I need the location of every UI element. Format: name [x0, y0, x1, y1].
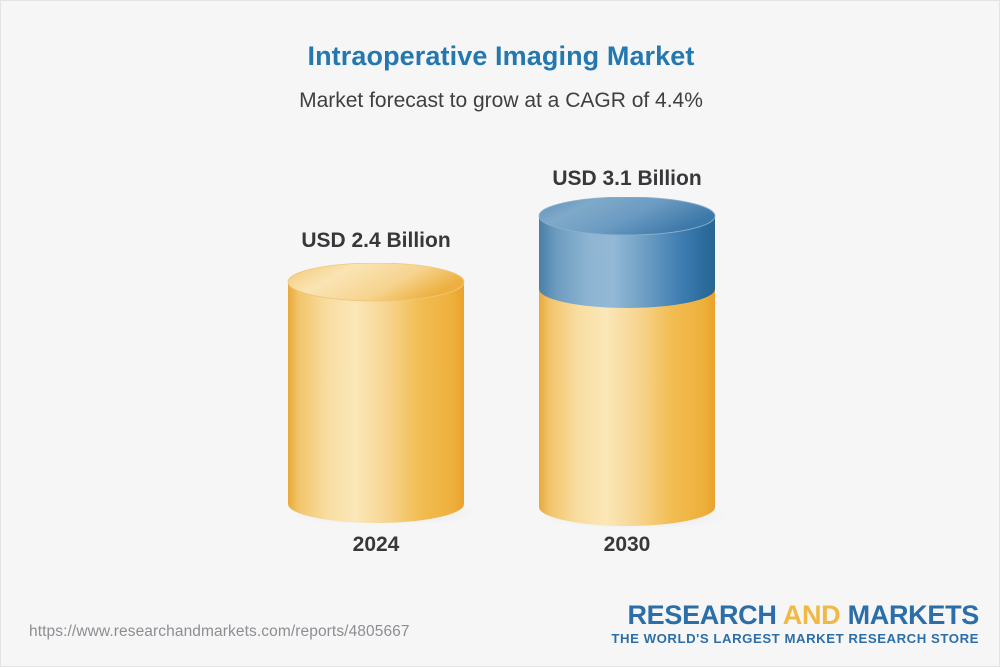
bar-cylinder-2030[interactable] — [527, 197, 727, 527]
logo-word-markets: MARKETS — [840, 600, 979, 630]
logo-tagline: THE WORLD'S LARGEST MARKET RESEARCH STOR… — [611, 631, 979, 646]
bar-category-label-2030: 2030 — [477, 533, 777, 557]
logo-word-and: AND — [783, 600, 841, 630]
logo-wordmark: RESEARCH AND MARKETS — [611, 601, 979, 629]
plot-area: USD 2.4 Billion — [1, 1, 1000, 601]
bar-value-label-2030: USD 3.1 Billion — [477, 167, 777, 191]
source-url[interactable]: https://www.researchandmarkets.com/repor… — [29, 623, 410, 641]
bar-cylinder-2024[interactable] — [276, 263, 476, 523]
bar-segment-base-2030 — [539, 289, 715, 526]
research-and-markets-logo[interactable]: RESEARCH AND MARKETS THE WORLD'S LARGEST… — [611, 601, 979, 646]
chart-canvas: Intraoperative Imaging Market Market for… — [0, 0, 1000, 667]
bar-value-label-2024: USD 2.4 Billion — [226, 229, 526, 253]
logo-word-research: RESEARCH — [627, 600, 782, 630]
